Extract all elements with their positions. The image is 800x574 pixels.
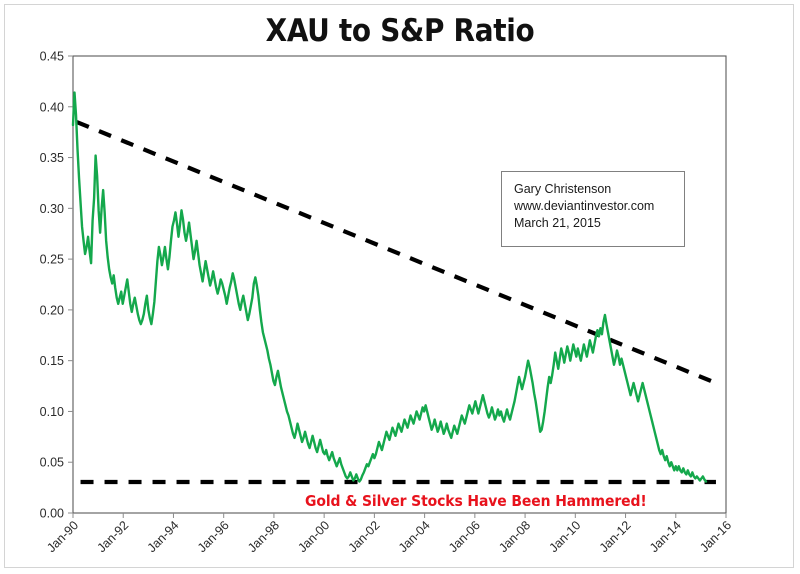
credit-website: www.deviantinvestor.com xyxy=(514,198,684,215)
x-axis-tick-label: Jan-90 xyxy=(44,518,81,555)
x-axis-tick-label: Jan-92 xyxy=(94,518,131,555)
x-axis-tick-label: Jan-02 xyxy=(346,518,383,555)
y-axis-tick-label: 0.45 xyxy=(40,50,64,64)
credit-date: March 21, 2015 xyxy=(514,215,684,232)
x-axis-tick-label: Jan-04 xyxy=(396,518,433,555)
chart-plot-area: 0.000.050.100.150.200.250.300.350.400.45… xyxy=(5,5,795,569)
x-axis-tick-label: Jan-14 xyxy=(647,518,684,555)
y-axis-tick-label: 0.25 xyxy=(40,253,64,267)
x-axis-tick-label: Jan-00 xyxy=(295,518,332,555)
y-axis-tick-label: 0.10 xyxy=(40,405,64,419)
y-axis-tick-label: 0.00 xyxy=(40,507,64,521)
x-axis-tick-label: Jan-94 xyxy=(145,518,182,555)
y-axis-tick-label: 0.20 xyxy=(40,303,64,317)
trendline-upper-resistance xyxy=(77,122,716,383)
y-axis-tick-label: 0.30 xyxy=(40,202,64,216)
y-axis-tick-label: 0.40 xyxy=(40,100,64,114)
plot-border xyxy=(73,56,726,513)
x-axis-tick-label: Jan-16 xyxy=(697,518,734,555)
y-axis-tick-label: 0.05 xyxy=(40,456,64,470)
x-axis-tick-label: Jan-98 xyxy=(245,518,282,555)
x-axis-tick-label: Jan-08 xyxy=(496,518,533,555)
credit-author: Gary Christenson xyxy=(514,181,684,198)
x-axis-tick-label: Jan-12 xyxy=(597,518,634,555)
credit-textbox: Gary Christenson www.deviantinvestor.com… xyxy=(501,171,685,247)
data-series-line xyxy=(73,93,706,482)
chart-annotation-text: Gold & Silver Stocks Have Been Hammered! xyxy=(305,492,647,510)
y-axis-tick-label: 0.15 xyxy=(40,354,64,368)
x-axis-tick-label: Jan-96 xyxy=(195,518,232,555)
x-axis-tick-label: Jan-06 xyxy=(446,518,483,555)
x-axis-tick-label: Jan-10 xyxy=(546,518,583,555)
chart-container: XAU to S&P Ratio 0.000.050.100.150.200.2… xyxy=(4,4,794,568)
y-axis-tick-label: 0.35 xyxy=(40,151,64,165)
